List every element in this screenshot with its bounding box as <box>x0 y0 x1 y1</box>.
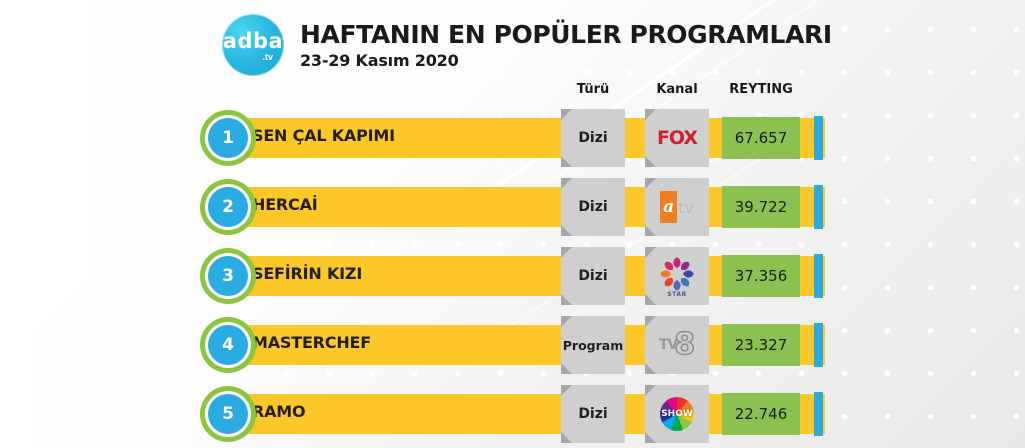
rating-value: 67.657 <box>722 117 800 159</box>
type-cell: Dizi <box>561 178 625 236</box>
row-end-marker <box>814 116 823 160</box>
table-row: 5 RAMO Dizi SHOW 22.746 <box>0 380 1025 448</box>
atv-suffix: tv <box>678 198 694 217</box>
type-label: Dizi <box>578 199 607 215</box>
tv8-logo-icon: TV 8 <box>649 320 705 370</box>
row-end-marker <box>814 185 823 229</box>
fox-logo-icon: FOX <box>649 113 705 163</box>
header: adba .tv HAFTANIN EN POPÜLER PROGRAMLARI… <box>222 14 832 76</box>
table-row: 3 SEFİRİN KIZI Dizi <box>0 242 1025 311</box>
rating-value: 37.356 <box>722 255 800 297</box>
type-cell: Program <box>561 316 625 374</box>
channel-logo: STAR <box>656 254 698 298</box>
channel-logo: a tv <box>660 191 694 223</box>
program-name: RAMO <box>252 402 305 421</box>
channel-cell: a tv <box>645 178 709 236</box>
channel-logo: SHOW <box>660 397 694 431</box>
channel-cell: TV 8 <box>645 316 709 374</box>
row-end-marker <box>814 254 823 298</box>
type-label: Dizi <box>578 268 607 284</box>
logo-wordmark: adba <box>222 31 284 52</box>
table-row: 2 HERCAİ Dizi a tv 39.722 <box>0 173 1025 242</box>
rank-badge: 3 <box>200 248 256 304</box>
rank-badge: 5 <box>200 386 256 442</box>
page-title: HAFTANIN EN POPÜLER PROGRAMLARI <box>300 22 832 48</box>
type-cell: Dizi <box>561 247 625 305</box>
program-name: SEN ÇAL KAPIMI <box>252 126 395 145</box>
channel-logo: TV 8 <box>659 330 695 360</box>
channel-cell: STAR <box>645 247 709 305</box>
program-name: HERCAİ <box>252 195 318 214</box>
rank-number: 5 <box>208 394 248 434</box>
show-tv-logo-icon: SHOW <box>649 389 705 439</box>
channel-cell: SHOW <box>645 385 709 443</box>
column-header-type: Türü <box>561 82 625 97</box>
table-row: 4 MASTERCHEF Program TV 8 23.327 <box>0 311 1025 380</box>
rank-badge: 4 <box>200 317 256 373</box>
column-header-rating: REYTING <box>722 82 800 97</box>
program-name: MASTERCHEF <box>252 333 371 352</box>
type-cell: Dizi <box>561 109 625 167</box>
infographic-canvas: adba .tv HAFTANIN EN POPÜLER PROGRAMLARI… <box>0 0 1025 448</box>
channel-label: FOX <box>657 127 697 149</box>
type-label: Program <box>563 338 624 353</box>
row-end-marker <box>814 392 823 436</box>
star-tv-logo-icon: STAR <box>649 251 705 301</box>
row-end-marker <box>814 323 823 367</box>
channel-cell: FOX <box>645 109 709 167</box>
atv-mark: a <box>660 191 677 223</box>
program-name: SEFİRİN KIZI <box>252 264 362 283</box>
date-range: 23-29 Kasım 2020 <box>300 51 832 70</box>
rank-badge: 2 <box>200 179 256 235</box>
ranking-list: 1 SEN ÇAL KAPIMI Dizi FOX 67.657 2 HERCA… <box>0 104 1025 448</box>
rating-value: 23.327 <box>722 324 800 366</box>
star-tv-label: STAR <box>656 291 698 298</box>
rank-number: 1 <box>208 118 248 158</box>
type-cell: Dizi <box>561 385 625 443</box>
column-header-channel: Kanal <box>645 82 709 97</box>
table-row: 1 SEN ÇAL KAPIMI Dizi FOX 67.657 <box>0 104 1025 173</box>
rank-number: 2 <box>208 187 248 227</box>
adba-logo: adba .tv <box>222 14 284 76</box>
rank-number: 4 <box>208 325 248 365</box>
tv8-eight: 8 <box>674 330 695 360</box>
logo-suffix: .tv <box>262 52 273 62</box>
show-tv-label: SHOW <box>660 397 694 431</box>
type-label: Dizi <box>578 406 607 422</box>
rank-badge: 1 <box>200 110 256 166</box>
rating-value: 22.746 <box>722 393 800 435</box>
type-label: Dizi <box>578 130 607 146</box>
rating-value: 39.722 <box>722 186 800 228</box>
atv-logo-icon: a tv <box>649 182 705 232</box>
title-block: HAFTANIN EN POPÜLER PROGRAMLARI 23-29 Ka… <box>300 20 832 70</box>
rank-number: 3 <box>208 256 248 296</box>
